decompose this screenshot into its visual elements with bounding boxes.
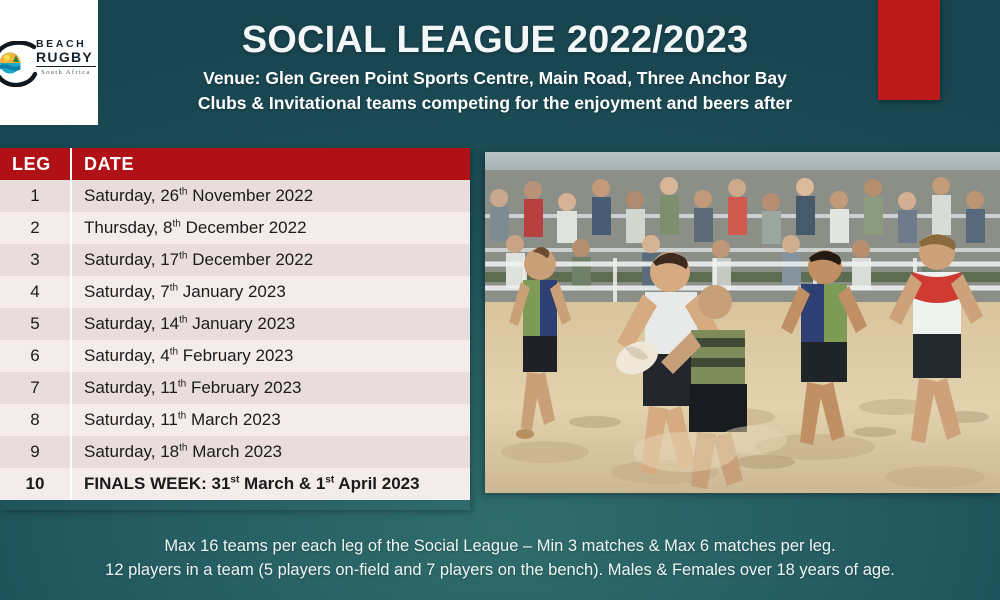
schedule-table: LEG DATE 1Saturday, 26th November 20222T… xyxy=(0,148,470,500)
beach-wave-sunset-icon xyxy=(0,41,39,87)
column-header-date: DATE xyxy=(71,148,470,180)
column-header-leg: LEG xyxy=(0,148,71,180)
cell-date: Saturday, 26th November 2022 xyxy=(71,180,470,212)
table-header-row: LEG DATE xyxy=(0,148,470,180)
table-row: 5Saturday, 14th January 2023 xyxy=(0,308,470,340)
footer-notes: Max 16 teams per each leg of the Social … xyxy=(30,534,970,582)
footer-line-2: 12 players in a team (5 players on-field… xyxy=(30,558,970,582)
cell-date: Saturday, 11th February 2023 xyxy=(71,372,470,404)
table-row: 9Saturday, 18th March 2023 xyxy=(0,436,470,468)
subtitle-line: Clubs & Invitational teams competing for… xyxy=(100,91,890,116)
venue-line: Venue: Glen Green Point Sports Centre, M… xyxy=(100,66,890,91)
brand-line-country: South Africa xyxy=(36,68,96,77)
poster-canvas: BEACH RUGBY South Africa SOCIAL LEAGUE 2… xyxy=(0,0,1000,600)
cell-leg: 9 xyxy=(0,436,71,468)
cell-date: Saturday, 17th December 2022 xyxy=(71,244,470,276)
venue-info: Venue: Glen Green Point Sports Centre, M… xyxy=(100,66,890,116)
cell-leg: 5 xyxy=(0,308,71,340)
cell-date: Thursday, 8th December 2022 xyxy=(71,212,470,244)
cell-leg: 1 xyxy=(0,180,71,212)
table-row: 4Saturday, 7th January 2023 xyxy=(0,276,470,308)
cell-leg: 3 xyxy=(0,244,71,276)
beach-rugby-photo xyxy=(485,152,1000,493)
cell-date: Saturday, 4th February 2023 xyxy=(71,340,470,372)
cell-leg: 2 xyxy=(0,212,71,244)
page-title: SOCIAL LEAGUE 2022/2023 xyxy=(115,18,875,62)
cell-leg: 6 xyxy=(0,340,71,372)
table-row: 1Saturday, 26th November 2022 xyxy=(0,180,470,212)
table-row: 10FINALS WEEK: 31st March & 1st April 20… xyxy=(0,468,470,500)
cell-date: Saturday, 14th January 2023 xyxy=(71,308,470,340)
brand-line-rugby: RUGBY xyxy=(36,50,96,67)
footer-line-1: Max 16 teams per each leg of the Social … xyxy=(30,534,970,558)
table-row: 7Saturday, 11th February 2023 xyxy=(0,372,470,404)
cell-date: Saturday, 7th January 2023 xyxy=(71,276,470,308)
cell-leg: 10 xyxy=(0,468,71,500)
table-row: 8Saturday, 11th March 2023 xyxy=(0,404,470,436)
table-row: 6Saturday, 4th February 2023 xyxy=(0,340,470,372)
table-row: 3Saturday, 17th December 2022 xyxy=(0,244,470,276)
brand-line-beach: BEACH xyxy=(36,39,96,50)
cell-date: Saturday, 11th March 2023 xyxy=(71,404,470,436)
cell-date: FINALS WEEK: 31st March & 1st April 2023 xyxy=(71,468,470,500)
cell-date: Saturday, 18th March 2023 xyxy=(71,436,470,468)
cell-leg: 8 xyxy=(0,404,71,436)
brand-logo: BEACH RUGBY South Africa xyxy=(0,0,98,125)
cell-leg: 7 xyxy=(0,372,71,404)
cell-leg: 4 xyxy=(0,276,71,308)
table-row: 2Thursday, 8th December 2022 xyxy=(0,212,470,244)
